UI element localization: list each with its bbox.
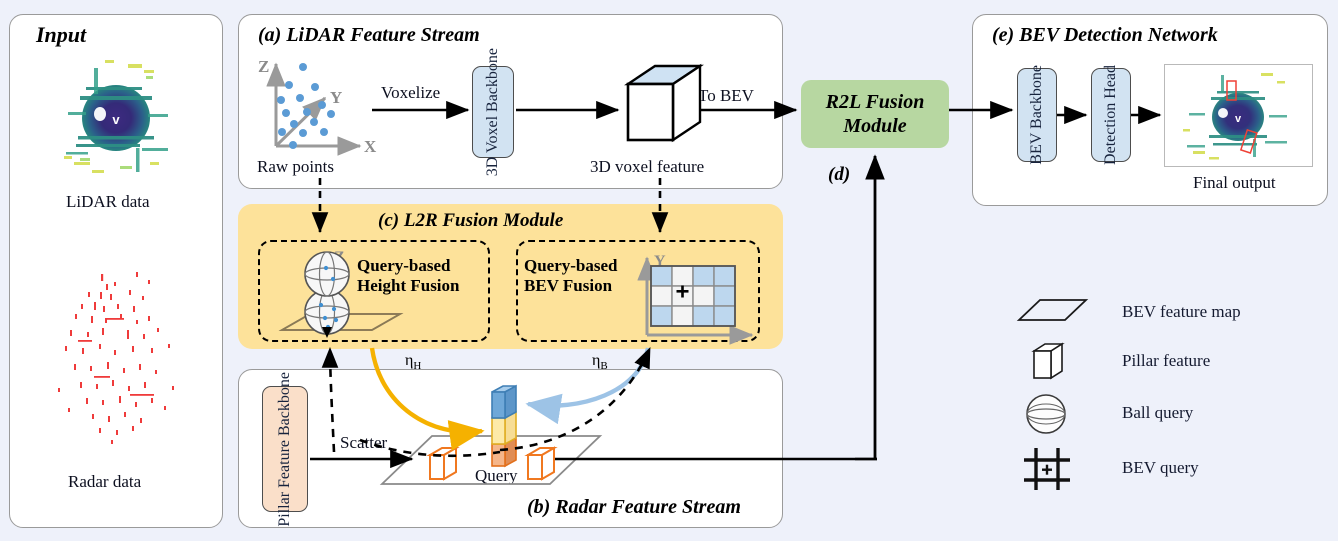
radar-stream-title: (b) Radar Feature Stream (527, 496, 741, 519)
l2r-fusion-title: (c) L2R Fusion Module (378, 210, 563, 232)
legend-ball-query-icon (1027, 395, 1065, 433)
module-detection-head-label: Detection Head (1102, 65, 1120, 165)
module-pillar-feature-backbone-label: Pillar Feature Backbone (276, 372, 294, 527)
bev-fusion-label-line2: BEV Fusion (524, 276, 618, 296)
bev-detection-title: (e) BEV Detection Network (992, 24, 1218, 47)
scatter-label: Scatter (340, 433, 387, 453)
to-bev-label: To BEV (698, 86, 754, 106)
panel-input-title: Input (36, 22, 86, 48)
height-fusion-label-line2: Height Fusion (357, 276, 460, 296)
diagram-canvas: Input (0, 0, 1338, 541)
module-r2l-fusion-line1: R2L Fusion (826, 90, 925, 114)
lidar-stream-title: (a) LiDAR Feature Stream (258, 24, 480, 47)
module-3d-voxel-backbone-label: 3D Voxel Backbone (484, 48, 502, 176)
module-bev-backbone[interactable]: BEV Backbone (1017, 68, 1057, 162)
legend-label-3: BEV query (1122, 458, 1199, 478)
legend-label-1: Pillar feature (1122, 351, 1210, 371)
voxel-feature-caption: 3D voxel feature (590, 157, 704, 177)
legend-bev-query-grid-icon (1024, 448, 1070, 490)
module-detection-head[interactable]: Detection Head (1091, 68, 1131, 162)
raw-points-caption: Raw points (257, 157, 334, 177)
legend-bev-query-plus-marker (1042, 465, 1052, 475)
radar-data-caption: Radar data (68, 472, 141, 492)
voxelize-label: Voxelize (381, 83, 440, 103)
legend-label-2: Ball query (1122, 403, 1193, 423)
module-bev-backbone-label: BEV Backbone (1028, 65, 1046, 165)
legend-parallelogram-icon (1019, 300, 1086, 320)
module-3d-voxel-backbone[interactable]: 3D Voxel Backbone (472, 66, 514, 158)
final-output-caption: Final output (1193, 173, 1276, 193)
lidar-data-caption: LiDAR data (66, 192, 150, 212)
radar-data-image (44, 258, 190, 454)
height-fusion-label-line1: Query-based (357, 256, 460, 276)
legend-label-0: BEV feature map (1122, 302, 1241, 322)
module-pillar-feature-backbone[interactable]: Pillar Feature Backbone (262, 386, 308, 512)
bev-fusion-label: Query-based BEV Fusion (524, 256, 618, 295)
height-fusion-label: Query-based Height Fusion (357, 256, 460, 295)
legend-pillar-cuboid-icon (1034, 344, 1062, 378)
module-r2l-fusion-line2: Module (843, 114, 906, 138)
d-branch-label: (d) (828, 164, 850, 186)
lidar-data-image: v (50, 52, 182, 184)
final-output-image: v (1164, 64, 1313, 167)
bev-fusion-label-line1: Query-based (524, 256, 618, 276)
svg-text:v: v (112, 112, 120, 127)
query-label: Query (475, 466, 517, 486)
module-r2l-fusion[interactable]: R2L Fusion Module (801, 80, 949, 148)
svg-text:v: v (1235, 113, 1242, 125)
